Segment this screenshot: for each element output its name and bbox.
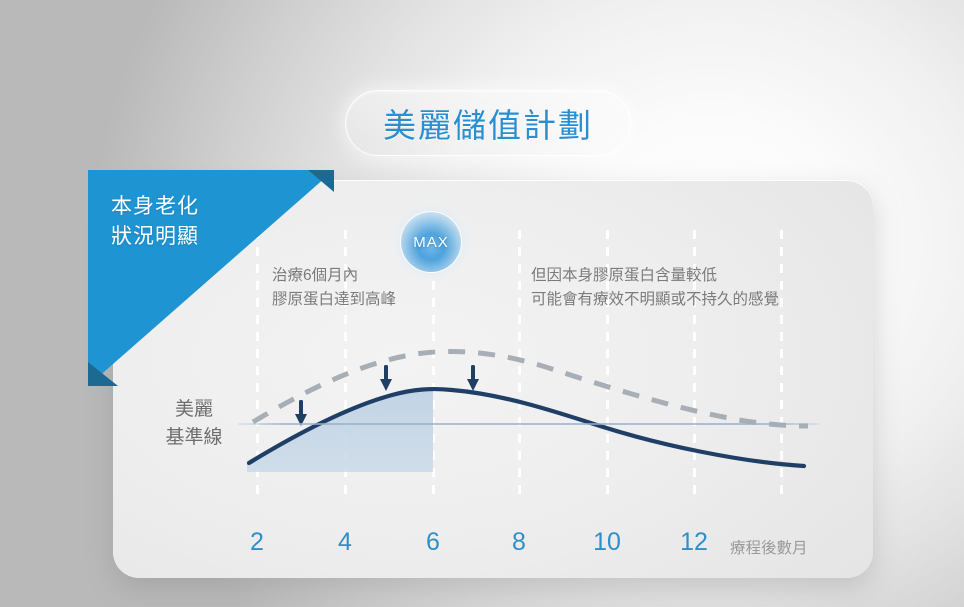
annotation-right: 但因本身膠原蛋白含量較低 可能會有療效不明顯或不持久的感覺 bbox=[531, 264, 779, 312]
banner-text-line2: 狀況明顯 bbox=[111, 222, 199, 252]
baseline-label-line1: 美麗 bbox=[148, 396, 240, 424]
slide-canvas: 美麗儲值計劃 bbox=[0, 0, 964, 607]
banner-text: 本身老化 狀況明顯 bbox=[111, 192, 199, 252]
axis-tick-12: 12 bbox=[664, 528, 724, 557]
max-marker-label: MAX bbox=[413, 234, 449, 251]
aging-status-banner: 本身老化 狀況明顯 bbox=[88, 170, 334, 386]
axis-tick-4: 4 bbox=[315, 528, 375, 557]
axis-tick-8: 8 bbox=[489, 528, 549, 557]
area-fill bbox=[247, 388, 433, 472]
axis-tick-2: 2 bbox=[227, 528, 287, 557]
max-marker: MAX bbox=[400, 211, 462, 273]
axis-caption: 療程後數月 bbox=[730, 536, 808, 558]
axis-tick-6: 6 bbox=[403, 528, 463, 557]
banner-text-line1: 本身老化 bbox=[111, 192, 199, 222]
baseline-label-line2: 基準線 bbox=[148, 424, 240, 452]
arrow-down-icon-3 bbox=[467, 365, 479, 391]
beauty-baseline-line bbox=[238, 423, 820, 425]
axis-tick-10: 10 bbox=[577, 528, 637, 557]
beauty-baseline-label: 美麗 基準線 bbox=[148, 396, 240, 451]
arrow-down-icon-2 bbox=[380, 365, 392, 391]
